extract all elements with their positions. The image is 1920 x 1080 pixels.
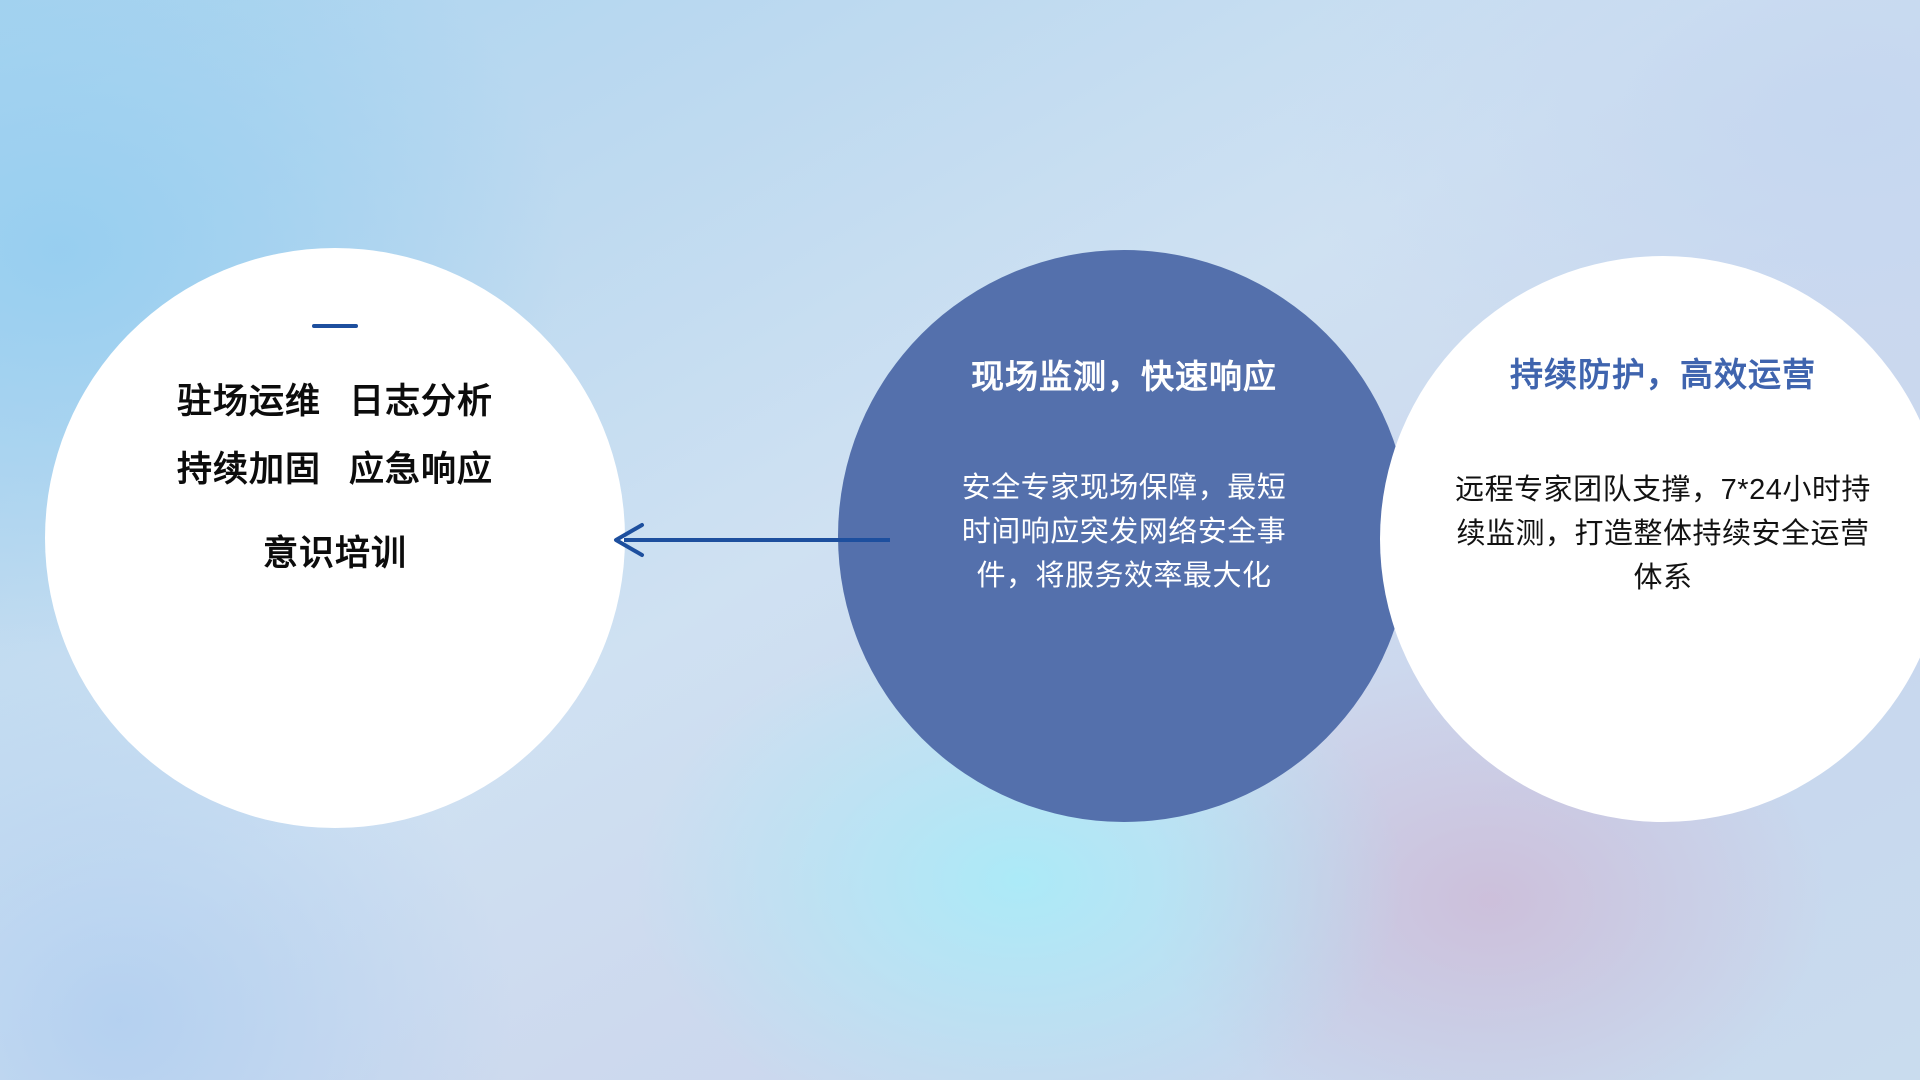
center-circle-body: 安全专家现场保障，最短时间响应突发网络安全事件，将服务效率最大化 bbox=[959, 466, 1289, 598]
capability-row-2: 持续加固应急响应 bbox=[177, 452, 493, 487]
capability-label: 日志分析 bbox=[349, 382, 493, 421]
capability-label: 持续加固 bbox=[177, 450, 321, 489]
capability-label: 应急响应 bbox=[349, 450, 493, 489]
slide-canvas: 驻场运维日志分析 持续加固应急响应 意识培训 现场监测，快速响应 安全专家现场保… bbox=[0, 0, 1920, 1080]
right-circle-content: 持续防护，高效运营 远程专家团队支撑，7*24小时持续监测，打造整体持续安全运营… bbox=[1380, 256, 1920, 822]
right-circle-title: 持续防护，高效运营 bbox=[1510, 348, 1816, 396]
left-divider-rule bbox=[312, 324, 358, 328]
capability-row-3: 意识培训 bbox=[263, 536, 407, 571]
right-circle-body: 远程专家团队支撑，7*24小时持续监测，打造整体持续安全运营体系 bbox=[1453, 468, 1873, 600]
capability-row-1: 驻场运维日志分析 bbox=[177, 384, 493, 419]
center-circle-title: 现场监测，快速响应 bbox=[971, 350, 1277, 398]
left-circle-content: 驻场运维日志分析 持续加固应急响应 意识培训 bbox=[45, 248, 625, 828]
capability-label: 驻场运维 bbox=[177, 382, 321, 421]
center-circle-content: 现场监测，快速响应 安全专家现场保障，最短时间响应突发网络安全事件，将服务效率最… bbox=[838, 250, 1410, 822]
